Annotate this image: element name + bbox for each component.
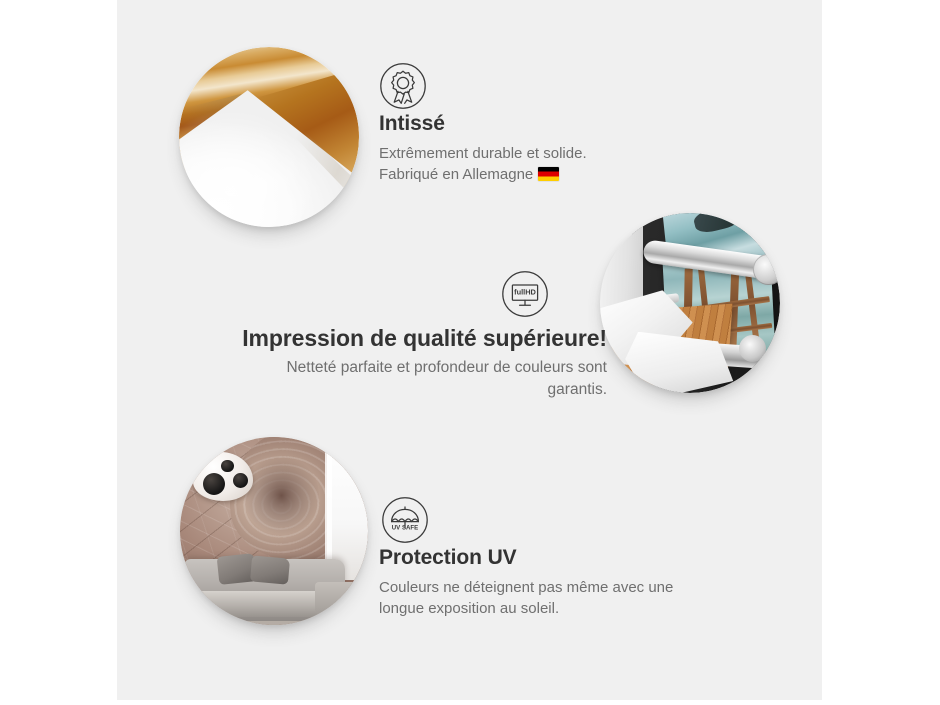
uv-protection-body: Couleurs ne déteignent pas même avec une…	[379, 577, 719, 620]
content-panel: Intissé Extrêmement durable et solide. F…	[117, 0, 822, 700]
print-quality-text-block: Impression de qualité supérieure! Nettet…	[175, 325, 607, 401]
living-room-mural-photo	[180, 437, 368, 625]
uv-protection-heading: Protection UV	[379, 546, 719, 570]
award-rosette-icon	[379, 62, 427, 110]
room-lamp-bulb-2	[221, 460, 233, 472]
svg-text:UV SAFE: UV SAFE	[392, 525, 418, 532]
uv-protection-body-line-1: Couleurs ne déteignent pas même avec une	[379, 577, 719, 598]
print-quality-body: Netteté parfaite et profondeur de couleu…	[175, 357, 607, 401]
print-quality-heading: Impression de qualité supérieure!	[175, 325, 607, 351]
intisse-heading: Intissé	[379, 112, 709, 136]
room-mural-swirl-core	[244, 456, 319, 535]
uv-protection-body-line-2: longue exposition au soleil.	[379, 598, 719, 619]
room-cushion-2	[250, 556, 290, 585]
promo-feature-page: Intissé Extrêmement durable et solide. F…	[0, 0, 940, 705]
wallpaper-highlight	[179, 47, 359, 227]
svg-text:fullHD: fullHD	[514, 288, 536, 297]
press-bottom-roller-cap	[739, 335, 766, 362]
fullhd-monitor-icon: fullHD	[501, 270, 549, 318]
intisse-body-line-2-wrap: Fabriqué en Allemagne	[379, 164, 709, 185]
german-flag-icon	[538, 167, 559, 181]
printing-press-photo	[600, 213, 780, 393]
intisse-body: Extrêmement durable et solide. Fabriqué …	[379, 143, 709, 186]
intisse-body-line-2: Fabriqué en Allemagne	[379, 166, 533, 183]
room-lamp-bulb-3	[233, 473, 248, 488]
print-quality-body-line-1: Netteté parfaite et profondeur de couleu…	[175, 357, 607, 379]
room-sofa-seat	[188, 591, 335, 617]
press-top-roller-cap	[753, 254, 780, 285]
intisse-text-block: Intissé Extrêmement durable et solide. F…	[379, 112, 709, 186]
uv-safe-umbrella-icon: UV SAFE	[381, 496, 429, 544]
uv-protection-text-block: Protection UV Couleurs ne déteignent pas…	[379, 546, 719, 620]
print-quality-body-line-2: garantis.	[175, 379, 607, 401]
room-ottoman	[315, 582, 360, 614]
peeling-wallpaper-photo	[179, 47, 359, 227]
intisse-body-line-1: Extrêmement durable et solide.	[379, 143, 709, 164]
